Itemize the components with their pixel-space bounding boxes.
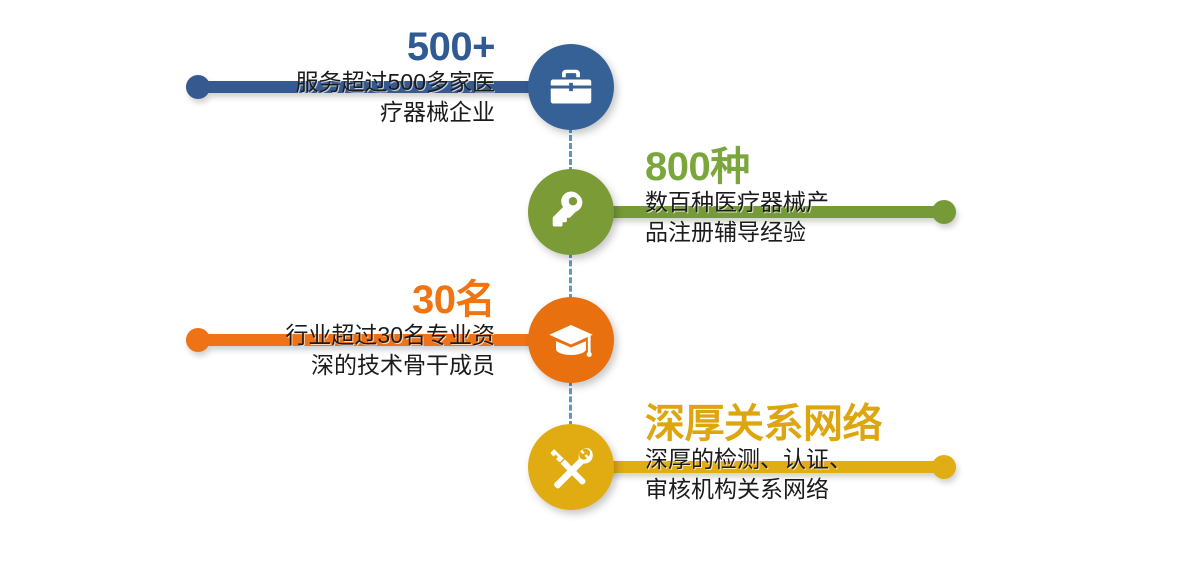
spine-segment-1 <box>569 127 572 173</box>
headline-1: 500+ <box>190 27 495 67</box>
infographic-canvas: 500+ 服务超过500多家医 疗器械企业 800种 数百种医疗器械产 品注册辅… <box>0 0 1180 566</box>
spine-segment-2 <box>569 252 572 300</box>
headline-3: 30名 <box>190 280 495 320</box>
description-4: 深厚的检测、认证、 审核机构关系网络 <box>645 444 955 505</box>
description-1: 服务超过500多家医 疗器械企业 <box>190 67 495 128</box>
description-3: 行业超过30名专业资 深的技术骨干成员 <box>190 320 495 381</box>
hammer-wrench-icon <box>547 443 595 491</box>
node-circle-3[interactable] <box>528 297 614 383</box>
spine-segment-3 <box>569 380 572 427</box>
graduation-cap-icon <box>547 316 595 364</box>
text-block-3: 30名 行业超过30名专业资 深的技术骨干成员 <box>190 280 495 381</box>
text-block-4: 深厚关系网络 深厚的检测、认证、 审核机构关系网络 <box>645 404 955 505</box>
briefcase-icon <box>547 63 595 111</box>
node-circle-4[interactable] <box>528 424 614 510</box>
text-block-2: 800种 数百种医疗器械产 品注册辅导经验 <box>645 147 955 248</box>
key-icon <box>547 188 595 236</box>
node-circle-2[interactable] <box>528 169 614 255</box>
description-2: 数百种医疗器械产 品注册辅导经验 <box>645 187 955 248</box>
headline-2: 800种 <box>645 147 955 187</box>
headline-4: 深厚关系网络 <box>645 404 955 444</box>
node-circle-1[interactable] <box>528 44 614 130</box>
text-block-1: 500+ 服务超过500多家医 疗器械企业 <box>190 27 495 128</box>
